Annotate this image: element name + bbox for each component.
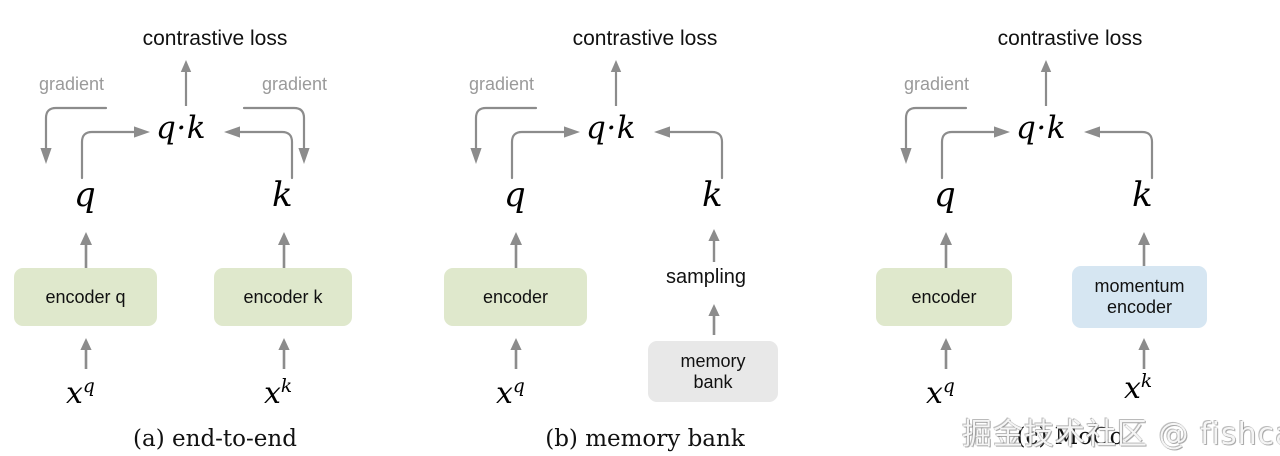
input-xk-sup: k	[281, 376, 292, 397]
gradient-label-left: gradient	[904, 74, 969, 95]
input-xq-base: x	[926, 376, 943, 411]
arrow-up-to-loss	[1038, 58, 1054, 106]
feature-label-q: q	[504, 178, 526, 212]
feature-label-k: k	[702, 178, 723, 212]
box-encoder-q[interactable]: encoder q	[14, 268, 157, 326]
panel-caption-b: (b) memory bank	[430, 426, 860, 452]
sampling-label: sampling	[666, 266, 746, 289]
arrow-encoder-k-to-k	[276, 231, 292, 269]
dot-product-label: q·k	[156, 113, 206, 144]
arrow-up-to-loss	[608, 58, 624, 106]
arrow-encoder-q-to-q	[78, 231, 94, 269]
panel-moco: contrastive loss gradient q·k	[860, 0, 1280, 456]
arrow-xk-to-encoder-k	[276, 337, 292, 369]
input-label-xq: xq	[926, 378, 955, 409]
arrow-encoder-to-q	[938, 231, 954, 269]
arrow-momentum-encoder-to-k	[1136, 231, 1152, 269]
arrow-sampling-to-k	[706, 228, 722, 262]
arrow-xk-to-momentum-encoder	[1136, 337, 1152, 369]
box-memory-bank-label-line1: memory	[680, 351, 745, 372]
arrow-memorybank-to-sampling	[706, 303, 722, 335]
forward-arrow-right	[652, 120, 730, 180]
box-encoder[interactable]: encoder	[876, 268, 1012, 326]
input-xq-base: x	[496, 376, 513, 411]
panel-end-to-end: contrastive loss gradient gradient	[0, 0, 430, 456]
input-xq-sup: q	[83, 376, 95, 397]
box-momentum-encoder-label-line1: momentum	[1094, 276, 1184, 297]
input-xk-base: x	[1124, 371, 1141, 406]
forward-arrow-right	[222, 120, 300, 180]
arrow-encoder-to-q	[508, 231, 524, 269]
box-memory-bank-label-line2: bank	[693, 372, 732, 393]
panel-memory-bank: contrastive loss gradient q·k	[430, 0, 860, 456]
contrastive-loss-label: contrastive loss	[860, 27, 1280, 51]
input-xq-base: x	[66, 376, 83, 411]
feature-label-q: q	[934, 178, 956, 212]
gradient-label-left: gradient	[39, 74, 104, 95]
forward-arrow-left	[504, 120, 582, 180]
box-momentum-encoder-label-line2: encoder	[1107, 297, 1172, 318]
box-encoder-k-label: encoder k	[243, 287, 322, 308]
box-memory-bank[interactable]: memory bank	[648, 341, 778, 402]
arrow-up-to-loss	[178, 58, 194, 106]
forward-arrow-right	[1082, 120, 1160, 180]
box-encoder-q-label: encoder q	[45, 287, 125, 308]
gradient-label-left: gradient	[469, 74, 534, 95]
panel-caption-c: (c) MoCo	[860, 424, 1280, 450]
forward-arrow-left	[934, 120, 1012, 180]
input-xq-sup: q	[943, 376, 955, 397]
input-label-xk: xk	[1124, 373, 1152, 404]
dot-product-label: q·k	[586, 113, 636, 144]
box-encoder-k[interactable]: encoder k	[214, 268, 352, 326]
input-label-xq: xq	[66, 378, 95, 409]
input-xk-base: x	[264, 376, 281, 411]
arrow-xq-to-encoder-q	[78, 337, 94, 369]
input-label-xq: xq	[496, 378, 525, 409]
contrastive-loss-label: contrastive loss	[0, 27, 430, 51]
gradient-label-right: gradient	[262, 74, 327, 95]
feature-label-q: q	[74, 178, 96, 212]
box-encoder-label: encoder	[911, 287, 976, 308]
arrow-xq-to-encoder	[508, 337, 524, 369]
forward-arrow-left	[74, 120, 152, 180]
input-label-xk: xk	[264, 378, 292, 409]
contrastive-loss-label: contrastive loss	[430, 27, 860, 51]
feature-label-k: k	[272, 178, 293, 212]
box-momentum-encoder[interactable]: momentum encoder	[1072, 266, 1207, 328]
feature-label-k: k	[1132, 178, 1153, 212]
box-encoder[interactable]: encoder	[444, 268, 587, 326]
arrow-xq-to-encoder	[938, 337, 954, 369]
box-encoder-label: encoder	[483, 287, 548, 308]
dot-product-label: q·k	[1016, 113, 1066, 144]
input-xk-sup: k	[1141, 371, 1152, 392]
panel-caption-a: (a) end-to-end	[0, 426, 430, 452]
figure-moco-comparison: contrastive loss gradient gradient	[0, 0, 1280, 456]
input-xq-sup: q	[513, 376, 525, 397]
